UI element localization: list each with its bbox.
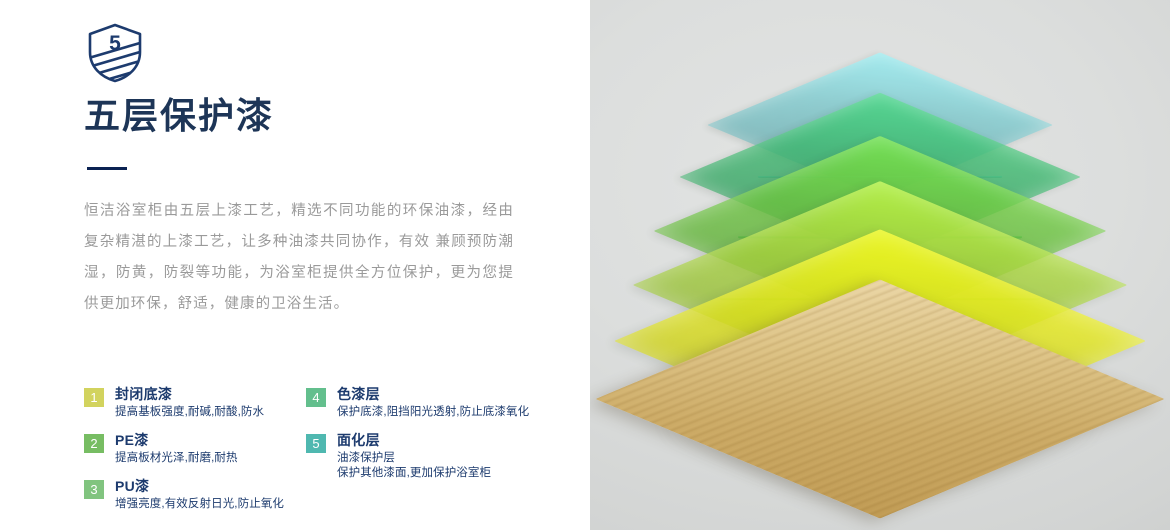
legend-desc-2: 提高板材光泽,耐磨,耐热: [115, 451, 238, 466]
legend-title-1: 封闭底漆: [115, 386, 264, 403]
legend-title-4: 色漆层: [337, 386, 529, 403]
legend-desc-3: 增强亮度,有效反射日光,防止氧化: [115, 497, 284, 512]
legend-item-4: 4 色漆层 保护底漆,阻挡阳光透射,防止底漆氧化: [306, 386, 556, 420]
legend-number-badge-3: 3: [84, 480, 104, 499]
five-layer-coating-illustration: [590, 0, 1170, 530]
legend-title-5: 面化层: [337, 432, 491, 449]
legend-desc-4: 保护底漆,阻挡阳光透射,防止底漆氧化: [337, 405, 529, 420]
layer-stack: [590, 0, 1170, 530]
legend-item-5: 5 面化层 油漆保护层 保护其他漆面,更加保护浴室柜: [306, 432, 556, 481]
legend-number-badge-4: 4: [306, 388, 326, 407]
legend-column-left: 1 封闭底漆 提高基板强度,耐碱,耐酸,防水 2 PE漆 提高板材光泽,耐磨,耐…: [84, 386, 299, 512]
left-content-panel: 5 五层保护漆 恒洁浴室柜由五层上漆工艺，精选不同功能的环保油漆，经由复杂精湛的…: [0, 0, 590, 530]
shield-5-icon: 5: [85, 22, 145, 84]
legend-item-1: 1 封闭底漆 提高基板强度,耐碱,耐酸,防水: [84, 386, 299, 420]
five-layer-coating-page: 5 五层保护漆 恒洁浴室柜由五层上漆工艺，精选不同功能的环保油漆，经由复杂精湛的…: [0, 0, 1170, 530]
wood-substrate-layer: [679, 314, 1082, 483]
legend-number-badge-5: 5: [306, 434, 326, 453]
legend-desc-5a: 油漆保护层: [337, 451, 491, 466]
legend-item-2: 2 PE漆 提高板材光泽,耐磨,耐热: [84, 432, 299, 466]
legend-title-3: PU漆: [115, 478, 284, 495]
legend-number-badge-2: 2: [84, 434, 104, 453]
legend-number-badge-1: 1: [84, 388, 104, 407]
legend-desc-1: 提高基板强度,耐碱,耐酸,防水: [115, 405, 264, 420]
title-divider: [87, 167, 127, 170]
legend-column-right: 4 色漆层 保护底漆,阻挡阳光透射,防止底漆氧化 5 面化层 油漆保护层 保护其…: [306, 386, 556, 481]
shield-number-label: 5: [109, 32, 121, 55]
body-paragraph: 恒洁浴室柜由五层上漆工艺，精选不同功能的环保油漆，经由复杂精湛的上漆工艺，让多种…: [84, 196, 514, 320]
page-title: 五层保护漆: [84, 96, 274, 136]
legend-title-2: PE漆: [115, 432, 238, 449]
legend-item-3: 3 PU漆 增强亮度,有效反射日光,防止氧化: [84, 478, 299, 512]
legend-list: 1 封闭底漆 提高基板强度,耐碱,耐酸,防水 2 PE漆 提高板材光泽,耐磨,耐…: [84, 386, 564, 530]
legend-desc-5b: 保护其他漆面,更加保护浴室柜: [337, 466, 491, 481]
